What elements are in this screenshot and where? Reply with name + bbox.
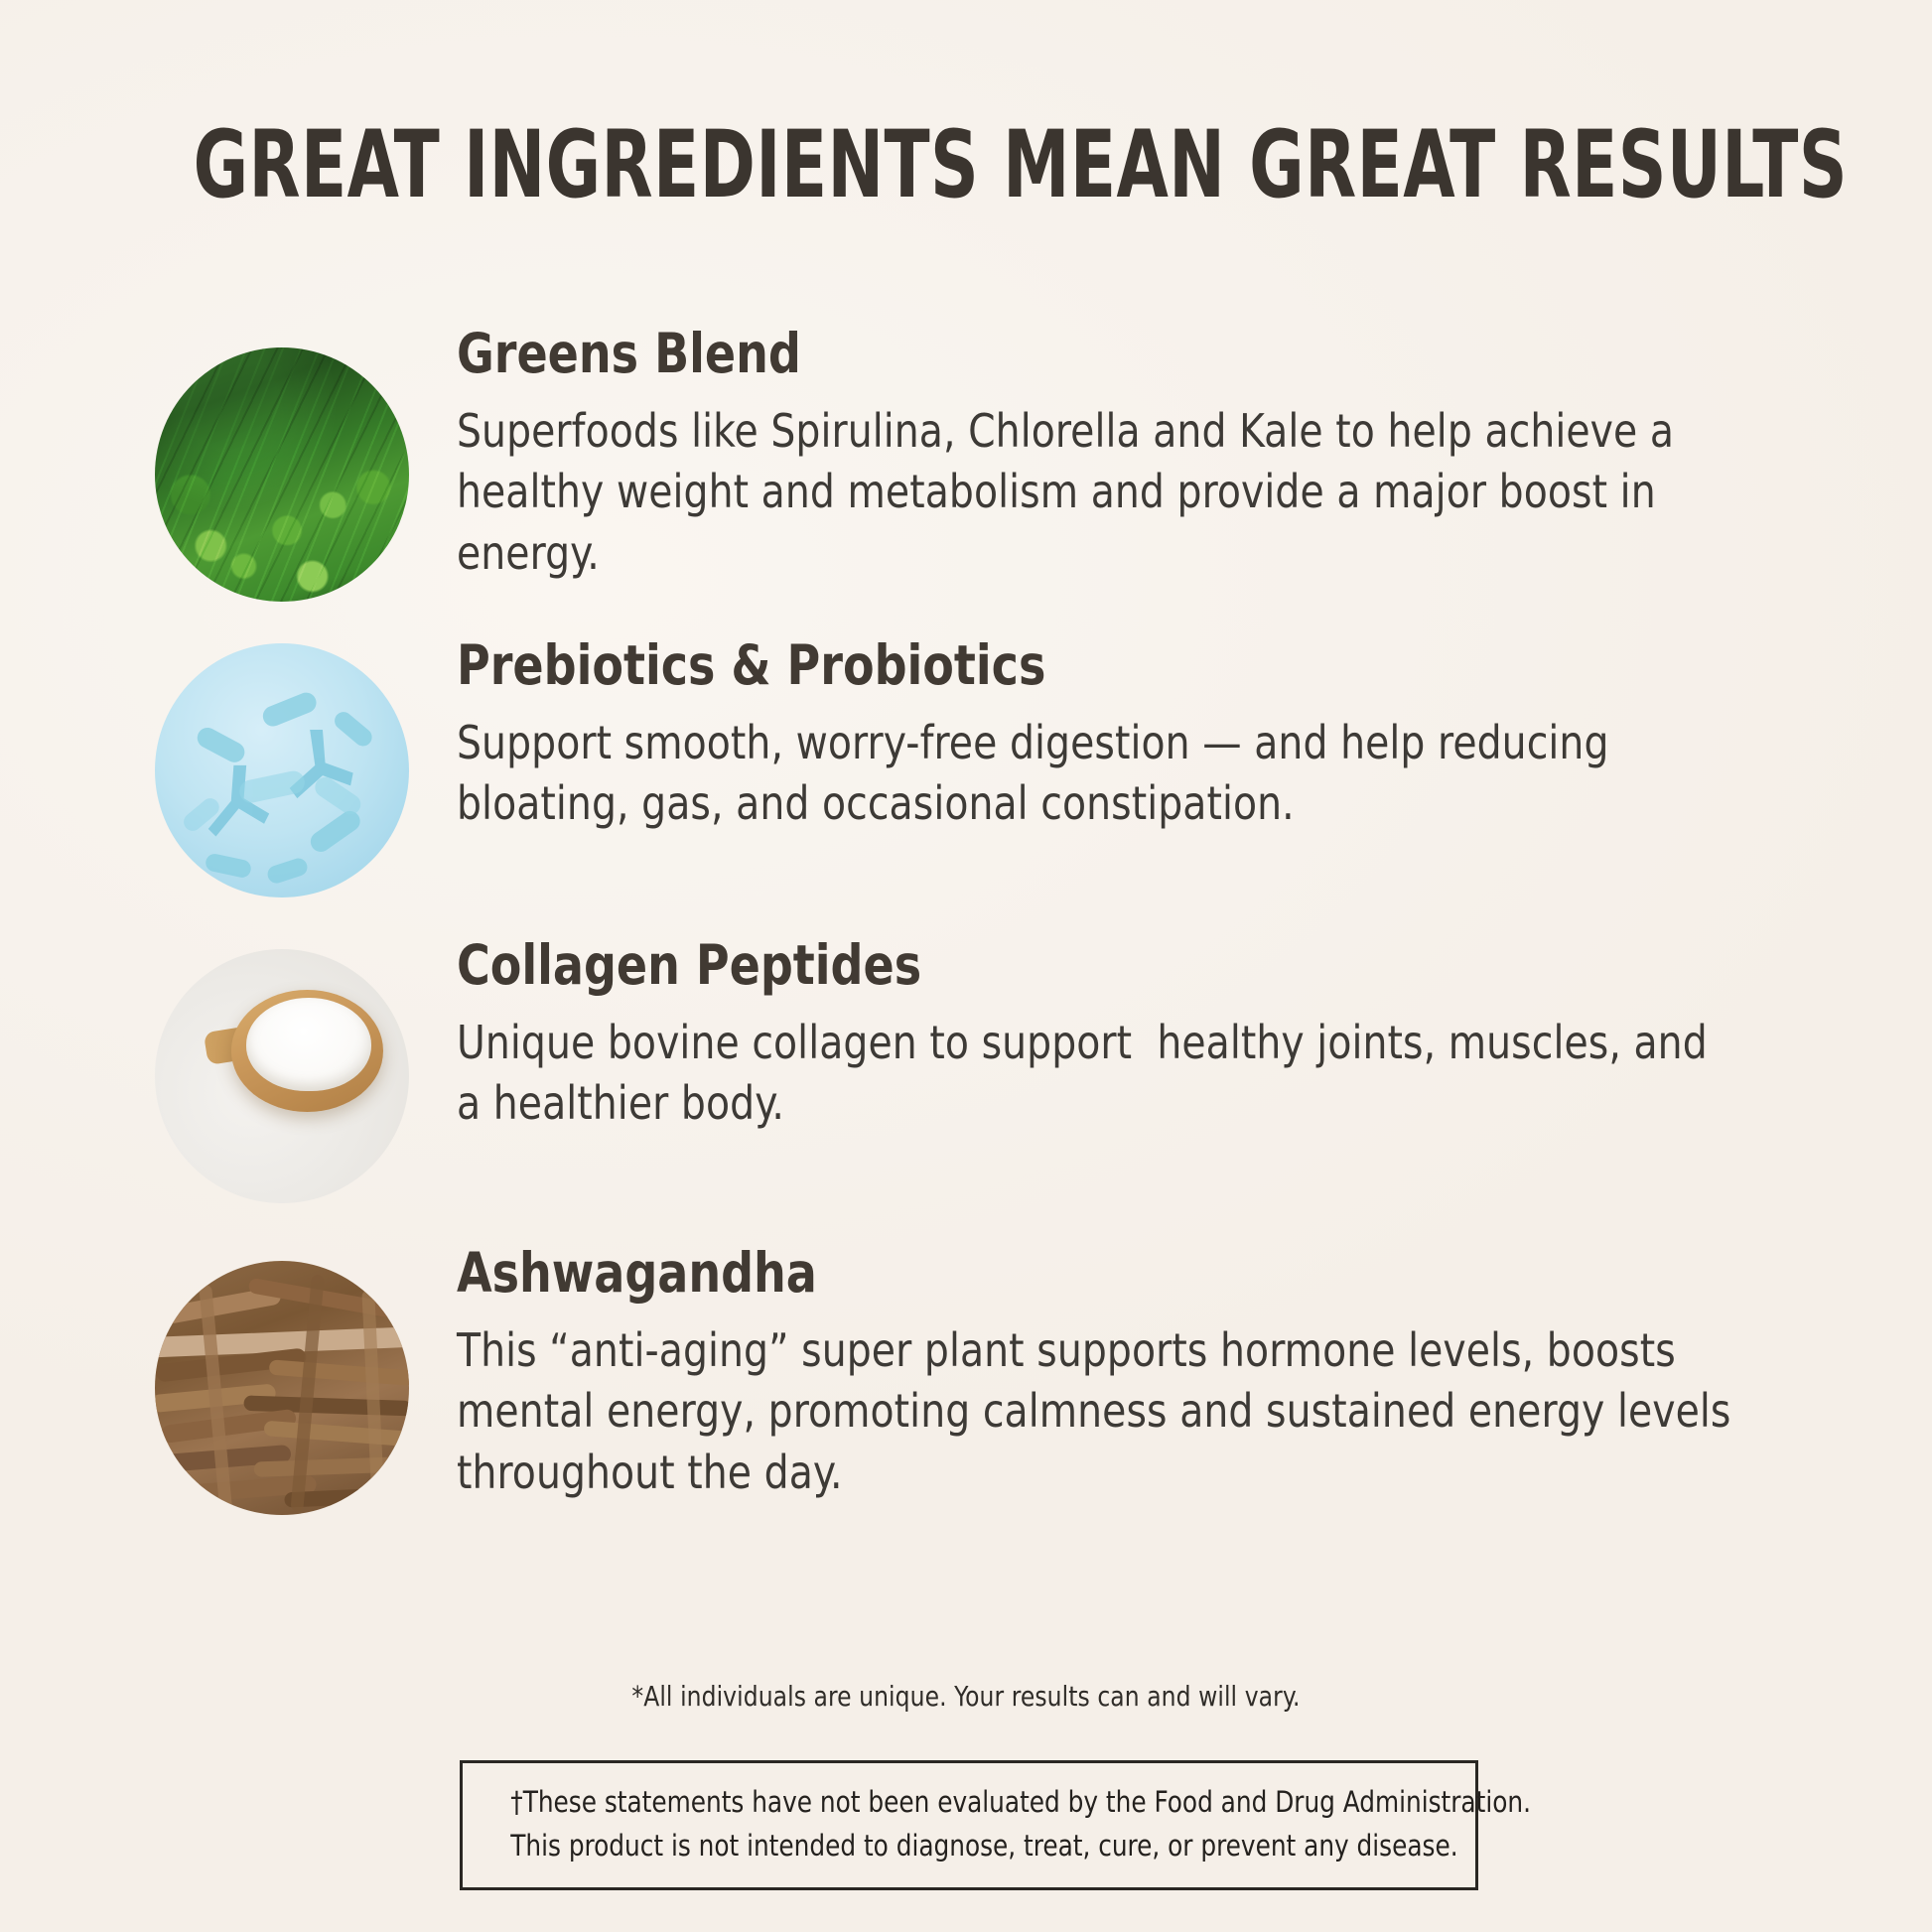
fda-disclaimer-line-2: This product is not intended to diagnose… — [510, 1825, 1427, 1868]
probiotic-bacteria-photo-icon — [155, 643, 409, 897]
results-footnote: *All individuals are unique. Your result… — [68, 1680, 1864, 1713]
ingredient-description: This “anti-aging” super plant supports h… — [457, 1320, 1743, 1504]
collagen-powder-spoon-photo-icon — [155, 949, 409, 1203]
fda-disclaimer-box: †These statements have not been evaluate… — [460, 1760, 1478, 1890]
ingredient-description: Superfoods like Spirulina, Chlorella and… — [457, 401, 1743, 585]
ingredient-text: Ashwagandha This “anti-aging” super plan… — [417, 1243, 1835, 1503]
page-title: GREAT INGREDIENTS MEAN GREAT RESULTS — [194, 117, 1739, 215]
ingredient-thumbnail-wrap — [147, 1243, 417, 1515]
ingredient-description: Unique bovine collagen to support health… — [457, 1013, 1743, 1135]
list-item: Ashwagandha This “anti-aging” super plan… — [147, 1243, 1835, 1515]
leafy-greens-photo-icon — [155, 347, 409, 602]
collagen-powder-shape — [246, 998, 370, 1092]
ingredient-text: Prebiotics & Probiotics Support smooth, … — [417, 635, 1835, 835]
ashwagandha-roots-photo-icon — [155, 1261, 409, 1515]
ingredient-title: Collagen Peptides — [457, 935, 1717, 997]
ingredient-description: Support smooth, worry-free digestion — a… — [457, 713, 1743, 835]
ingredient-thumbnail-wrap — [147, 935, 417, 1203]
fda-disclaimer-line-1: †These statements have not been evaluate… — [510, 1781, 1427, 1825]
ingredient-thumbnail-wrap — [147, 635, 417, 897]
ingredient-title: Greens Blend — [457, 324, 1717, 385]
list-item: Prebiotics & Probiotics Support smooth, … — [147, 635, 1835, 897]
ingredient-title: Ashwagandha — [457, 1243, 1717, 1305]
ingredients-infographic: GREAT INGREDIENTS MEAN GREAT RESULTS Gre… — [0, 0, 1932, 1932]
list-item: Greens Blend Superfoods like Spirulina, … — [147, 324, 1835, 602]
list-item: Collagen Peptides Unique bovine collagen… — [147, 935, 1835, 1203]
ingredient-text: Collagen Peptides Unique bovine collagen… — [417, 935, 1835, 1135]
ingredient-title: Prebiotics & Probiotics — [457, 635, 1717, 697]
ingredient-thumbnail-wrap — [147, 324, 417, 602]
ingredient-list: Greens Blend Superfoods like Spirulina, … — [147, 324, 1835, 1515]
ingredient-text: Greens Blend Superfoods like Spirulina, … — [417, 324, 1835, 584]
